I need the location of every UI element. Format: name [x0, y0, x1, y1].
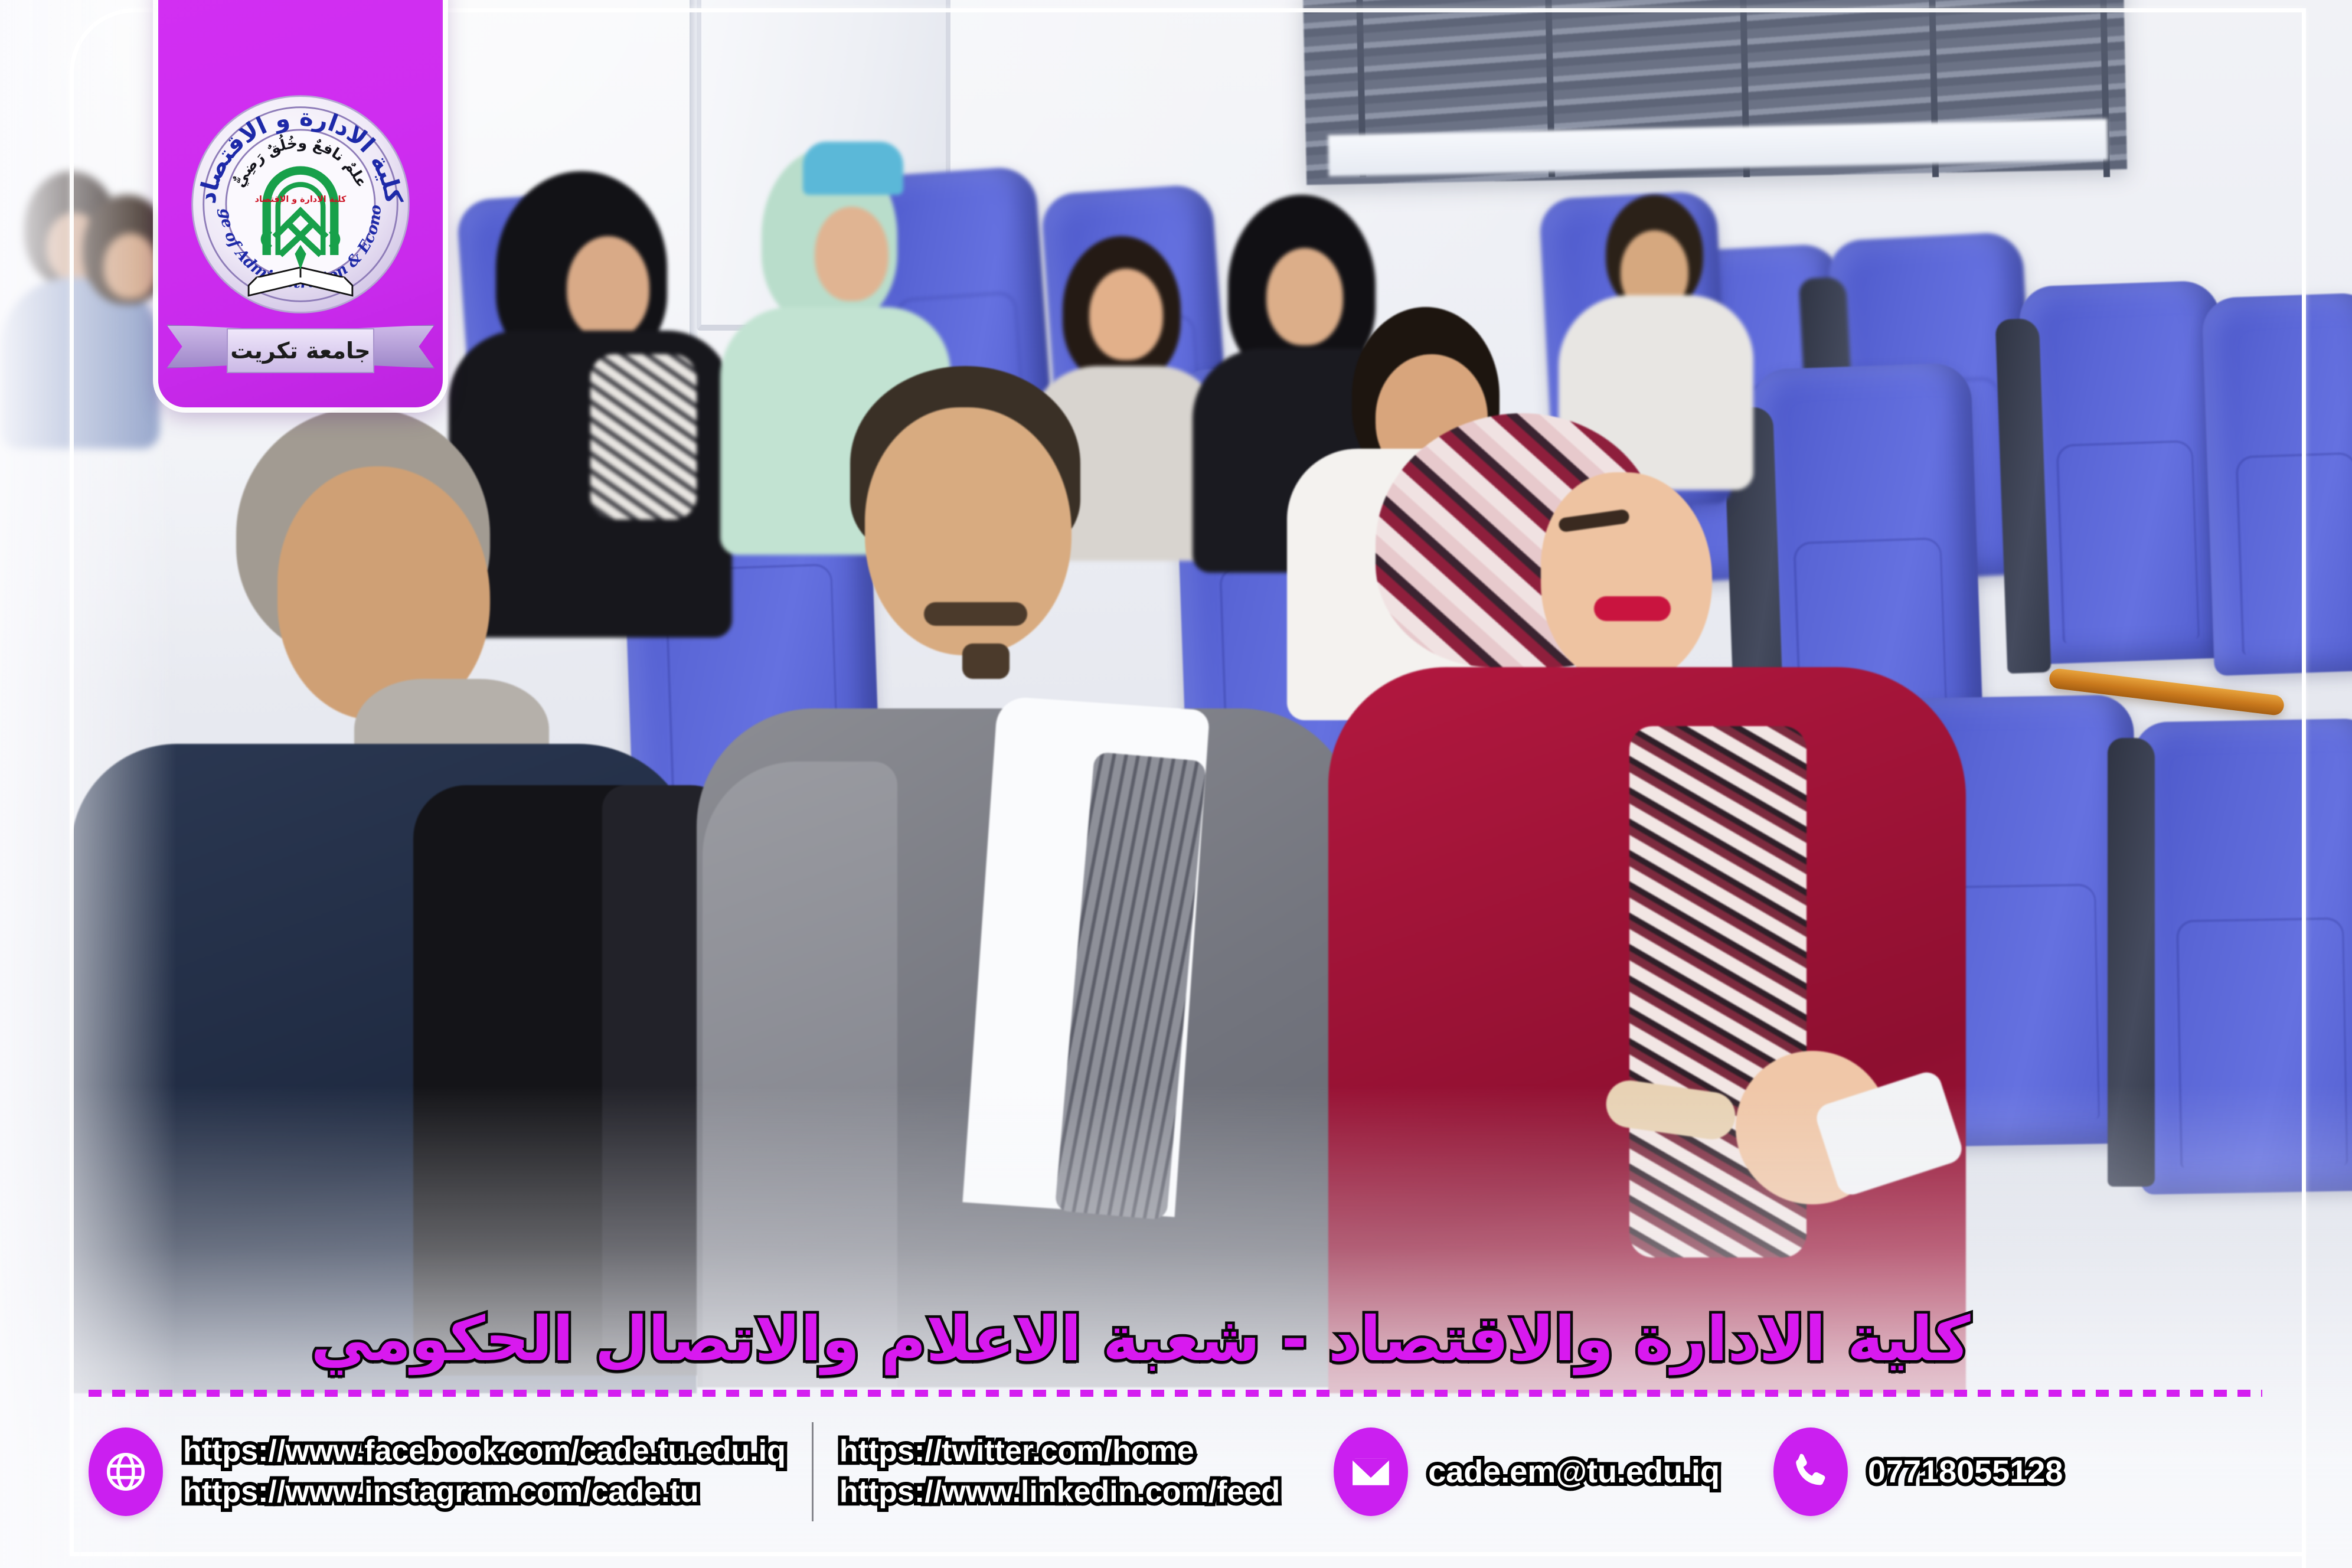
email-block: cade.em@tu.edu.iq	[1428, 1455, 1720, 1489]
envelope-icon	[1334, 1427, 1408, 1516]
footer-separator	[812, 1422, 814, 1521]
email-address[interactable]: cade.em@tu.edu.iq	[1428, 1455, 1720, 1489]
facebook-url[interactable]: https://www.facebook.com/cade.tu.edu.iq	[183, 1435, 786, 1468]
footer-group-web: https://www.facebook.com/cade.tu.edu.iq …	[89, 1404, 786, 1540]
footer-group-email: cade.em@tu.edu.iq	[1334, 1404, 1720, 1540]
footer-spacer	[1746, 1422, 1747, 1521]
seat-side-panel	[2108, 738, 2155, 1187]
college-seal-icon: كلية الادارة و الاقتصاد College of Admin…	[188, 92, 413, 317]
footer-group-social: https://twitter.com/home https://www.lin…	[839, 1404, 1280, 1540]
svg-text:كلية الادارة و الاقتصاد: كلية الادارة و الاقتصاد	[255, 195, 347, 204]
footer-group-phone: 07718055128	[1773, 1404, 2063, 1540]
event-title: كلية الادارة والاقتصاد - شعبة الاعلام وا…	[0, 1302, 2281, 1377]
dashed-divider	[89, 1390, 2262, 1397]
contact-footer: https://www.facebook.com/cade.tu.edu.iq …	[89, 1404, 2281, 1540]
auditorium-seat	[2201, 292, 2352, 676]
university-name: جامعة تكريت	[230, 338, 370, 364]
college-logo-badge: كلية الادارة و الاقتصاد College of Admin…	[158, 0, 443, 407]
phone-number[interactable]: 07718055128	[1868, 1455, 2063, 1489]
phone-icon	[1773, 1427, 1848, 1516]
event-title-text: كلية الادارة والاقتصاد - شعبة الاعلام وا…	[311, 1302, 1971, 1377]
globe-icon	[89, 1427, 163, 1516]
university-ribbon: جامعة تكريت	[227, 328, 374, 373]
twitter-url[interactable]: https://twitter.com/home	[839, 1435, 1280, 1468]
footer-spacer	[1306, 1422, 1308, 1521]
social-links: https://twitter.com/home https://www.lin…	[839, 1435, 1280, 1508]
linkedin-url[interactable]: https://www.linkedin.com/feed	[839, 1476, 1280, 1508]
event-card: كلية الادارة و الاقتصاد College of Admin…	[0, 0, 2352, 1568]
phone-block: 07718055128	[1868, 1455, 2063, 1489]
auditorium-seat	[2133, 718, 2352, 1194]
web-links: https://www.facebook.com/cade.tu.edu.iq …	[183, 1435, 786, 1508]
auditorium-seat	[2018, 280, 2232, 664]
instagram-url[interactable]: https://www.instagram.com/cade.tu	[183, 1476, 786, 1508]
